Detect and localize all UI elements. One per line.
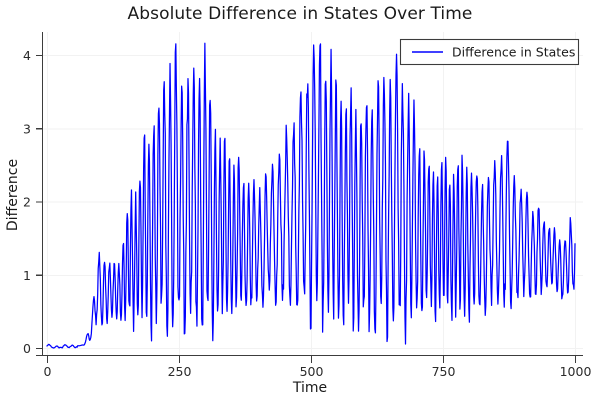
y-tick-label: 0: [23, 341, 31, 356]
legend[interactable]: Difference in States: [401, 40, 579, 65]
y-tick-label: 4: [23, 48, 31, 63]
x-axis-title: Time: [292, 380, 327, 396]
y-tick-label: 3: [23, 121, 31, 136]
legend-entry-label: Difference in States: [452, 45, 575, 60]
x-tick-label: 1000: [560, 364, 592, 379]
x-tick-label: 250: [168, 364, 192, 379]
chart-figure: Absolute Difference in States Over Time …: [0, 0, 600, 400]
y-axis-title: Difference: [5, 159, 21, 231]
y-tick-label: 2: [23, 195, 31, 210]
x-tick-label: 750: [432, 364, 456, 379]
y-tick-label: 1: [23, 268, 31, 283]
x-tick-label: 500: [300, 364, 324, 379]
plot-area: 0123402505007501000 Time Difference Diff…: [0, 0, 600, 400]
x-tick-label: 0: [44, 364, 52, 379]
